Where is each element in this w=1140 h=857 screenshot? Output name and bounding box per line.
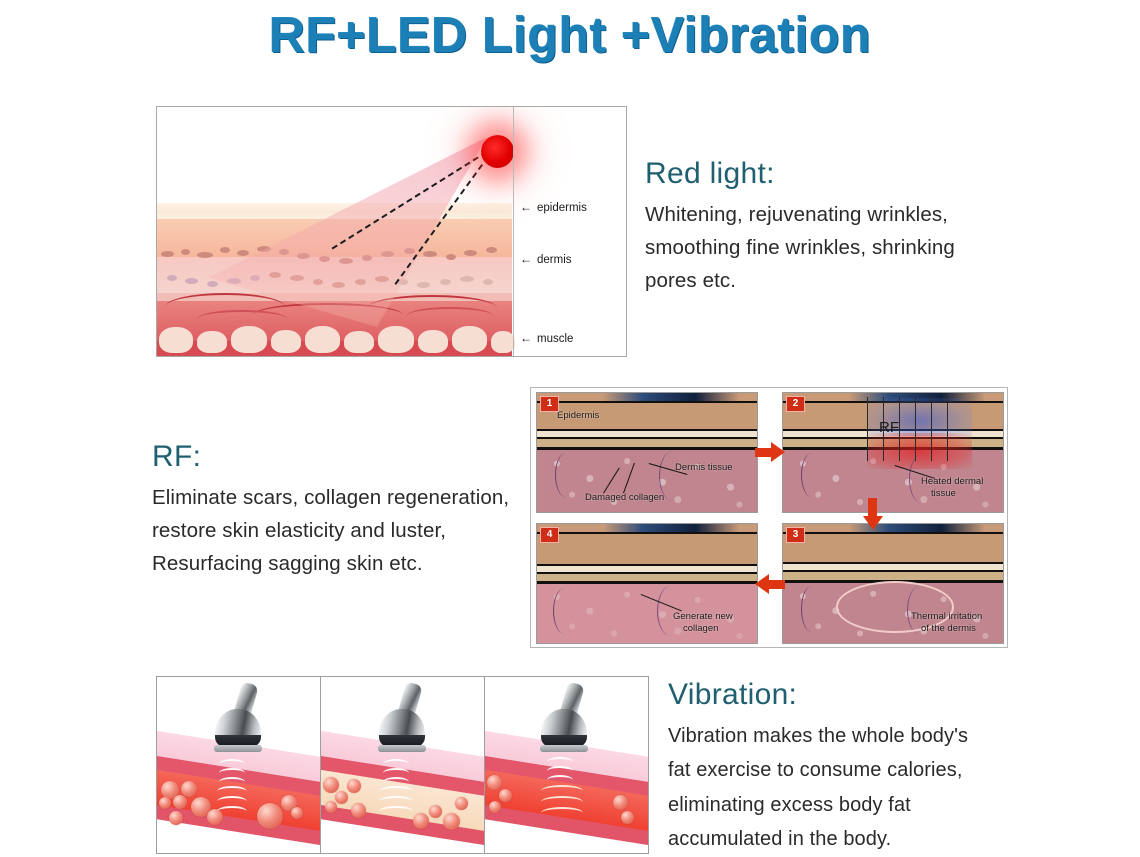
flow-arrow-3-to-4 — [755, 574, 785, 594]
device-contact-plate — [214, 745, 262, 752]
fat-globule — [325, 801, 337, 813]
rf-label: RF — [879, 419, 899, 436]
rf-caption-heated-1: Heated dermal — [921, 477, 983, 488]
rf-panel-badge-4: 4 — [540, 527, 559, 543]
fat-globule — [443, 813, 460, 830]
label-epidermis: ←epidermis — [520, 200, 587, 214]
rf-panel-badge-1: 1 — [540, 396, 559, 412]
epidermis-layer — [783, 534, 1003, 562]
vein — [555, 453, 576, 497]
fat-globule — [347, 779, 361, 793]
vibration-body-line: fat exercise to consume calories, — [668, 753, 1088, 787]
rf-field-line — [899, 397, 900, 461]
fat-globule — [169, 811, 183, 825]
rf-caption-generate-2: collagen — [683, 624, 718, 635]
rf-panel-4: 4 Generate new collagen — [536, 523, 758, 644]
rf-field-line — [867, 397, 868, 461]
vibration-panel-3 — [485, 677, 648, 853]
rf-body-line: Resurfacing sagging skin etc. — [152, 547, 552, 580]
device-contact-plate — [540, 745, 588, 752]
skin-label-column: ←epidermis ←dermis ←muscle — [513, 107, 626, 356]
fat-globule — [351, 803, 366, 818]
arrow-left-icon: ← — [520, 331, 532, 345]
rf-panel-badge-3: 3 — [786, 527, 805, 543]
epidermis-layer — [537, 534, 757, 564]
vibration-text-block: Vibration: Vibration makes the whole bod… — [668, 678, 1088, 857]
arrow-left-icon: ← — [520, 200, 532, 214]
fat-globule — [173, 795, 187, 809]
fat-globule — [489, 801, 501, 813]
fat-globule — [621, 811, 634, 824]
skin-outline — [783, 532, 1003, 534]
vibration-panel-1 — [157, 677, 321, 853]
vibration-waves — [541, 757, 593, 819]
flow-arrow-1-to-2 — [755, 442, 785, 462]
rf-caption-dermis-tissue: Dermis tissue — [675, 463, 733, 474]
vibration-body-line: eliminating excess body fat — [668, 788, 1088, 822]
vibration-panel-2 — [321, 677, 485, 853]
rf-heading: RF: — [152, 440, 552, 473]
led-light-source — [481, 135, 514, 168]
rf-body-line: Eliminate scars, collagen regeneration, — [152, 481, 552, 514]
vibration-waves — [215, 759, 259, 819]
fat-globule — [159, 797, 171, 809]
arrow-left-icon: ← — [520, 252, 532, 266]
fat-globule — [487, 775, 502, 790]
granular-layer — [537, 574, 757, 581]
red-light-body-line: pores etc. — [645, 264, 1045, 297]
rf-panel-2: 2 RF Heated dermal tissue — [782, 392, 1004, 513]
fat-globule — [499, 789, 512, 802]
rf-body: Eliminate scars, collagen regeneration, … — [152, 481, 552, 581]
vibration-waves — [379, 759, 423, 819]
vibration-body: Vibration makes the whole body's fat exe… — [668, 719, 1088, 857]
label-muscle: ←muscle — [520, 331, 573, 345]
skin-outline — [537, 401, 757, 403]
rf-caption-epidermis: Epidermis — [557, 411, 599, 422]
flow-arrow-2-to-3 — [863, 498, 883, 532]
fat-globule — [257, 803, 283, 829]
rf-caption-thermal-2: of the dermis — [921, 624, 976, 635]
vibration-body-line: Vibration makes the whole body's — [668, 719, 1088, 753]
fat-globule — [613, 795, 628, 810]
fat-globule — [455, 797, 468, 810]
device-contact-plate — [378, 745, 426, 752]
red-light-body-line: Whitening, rejuvenating wrinkles, — [645, 198, 1045, 231]
rf-panel-1: 1 Epidermis Dermis tissue Damaged collag… — [536, 392, 758, 513]
rf-cycle-figure: 1 Epidermis Dermis tissue Damaged collag… — [530, 387, 1008, 648]
page-title: RF+LED Light +Vibration — [0, 6, 1140, 64]
rf-caption-damaged-collagen: Damaged collagen — [585, 493, 664, 504]
red-light-body: Whitening, rejuvenating wrinkles, smooth… — [645, 198, 1045, 298]
skin-layer-surface — [157, 203, 512, 213]
fat-globule — [291, 807, 303, 819]
infographic-page: RF+LED Light +Vibration — [0, 0, 1140, 855]
red-light-body-line: smoothing fine wrinkles, shrinking — [645, 231, 1045, 264]
fat-globule — [429, 805, 442, 818]
fat-globule — [323, 777, 339, 793]
rf-caption-heated-2: tissue — [931, 489, 956, 500]
vibration-device-head — [537, 683, 597, 763]
skin-outline — [537, 532, 757, 534]
red-light-heading: Red light: — [645, 157, 1045, 190]
vein — [801, 586, 822, 632]
fat-globule — [181, 781, 197, 797]
rf-body-line: restore skin elasticity and luster, — [152, 514, 552, 547]
rf-field-line — [931, 397, 932, 461]
rf-panel-badge-2: 2 — [786, 396, 805, 412]
vein — [801, 453, 822, 497]
vibration-device-head — [211, 683, 271, 763]
rf-text-block: RF: Eliminate scars, collagen regenerati… — [152, 440, 552, 581]
vibration-heading: Vibration: — [668, 678, 1088, 711]
red-light-text-block: Red light: Whitening, rejuvenating wrink… — [645, 157, 1045, 298]
muscle-fiber-band — [157, 313, 512, 356]
vein — [553, 588, 576, 634]
granular-layer — [783, 572, 1003, 580]
vibration-device-head — [375, 683, 435, 763]
vibration-figure — [156, 676, 649, 854]
red-light-figure: ←epidermis ←dermis ←muscle — [156, 106, 627, 357]
rf-field-line — [915, 397, 916, 461]
rf-caption-generate-1: Generate new — [673, 612, 733, 623]
vibration-body-line: accumulated in the body. — [668, 822, 1088, 856]
label-dermis: ←dermis — [520, 252, 572, 266]
granular-layer — [537, 439, 757, 447]
rf-panel-3: 3 Thermal irritation of the dermis — [782, 523, 1004, 644]
fat-globule — [335, 791, 348, 804]
rf-field-line — [947, 397, 948, 461]
rf-caption-thermal-1: Thermal irritation — [911, 612, 982, 623]
